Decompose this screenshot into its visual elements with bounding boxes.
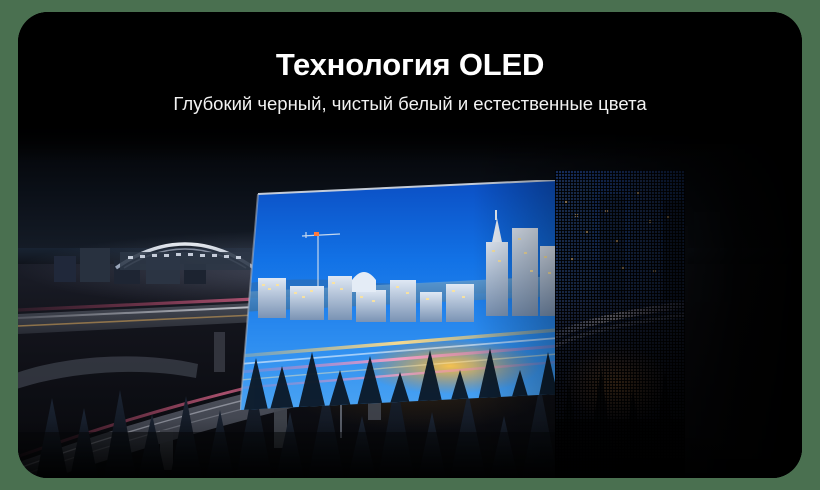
hero-photo bbox=[18, 12, 802, 478]
oled-tv-panel bbox=[240, 180, 558, 410]
stadium-icon bbox=[110, 224, 260, 270]
pixel-grid-content bbox=[555, 170, 685, 478]
oled-pixel-grid bbox=[555, 170, 685, 478]
oled-tv-screen bbox=[240, 180, 558, 410]
promo-card: Технология OLED Глубокий черный, чистый … bbox=[18, 12, 802, 478]
